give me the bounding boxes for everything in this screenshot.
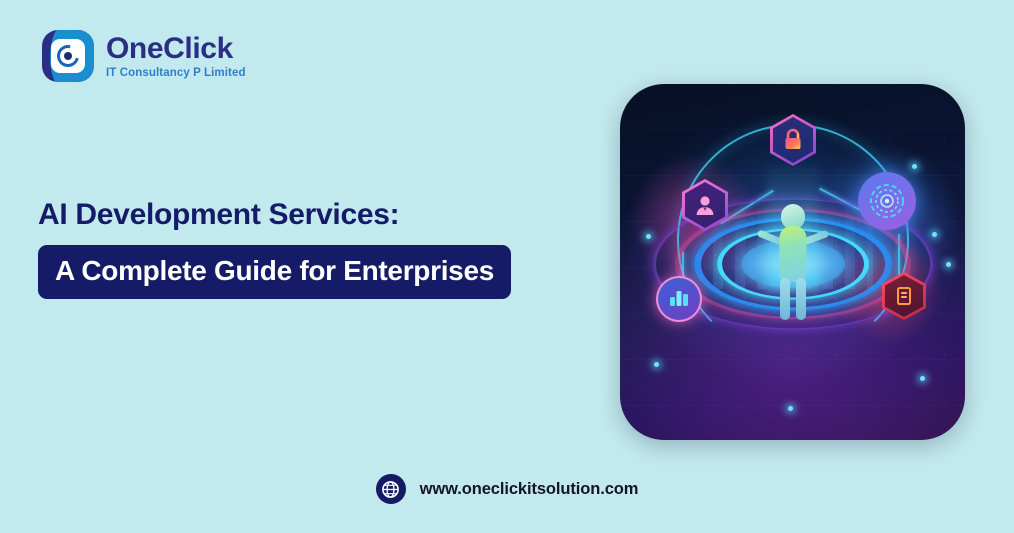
doc-badge: [882, 272, 926, 320]
oneclick-logo-icon: [42, 30, 94, 82]
lock-badge: [770, 114, 816, 166]
figure-left-leg: [780, 278, 790, 320]
dial-badge: [858, 172, 916, 230]
footer-website-url[interactable]: www.oneclickitsolution.com: [420, 480, 639, 499]
sparkle-dot: [912, 164, 917, 169]
sparkle-dot: [788, 406, 793, 411]
figure-torso: [779, 226, 806, 282]
sparkle-dot: [646, 234, 651, 239]
padlock-icon: [782, 128, 804, 152]
sparkle-dot: [946, 262, 951, 267]
hero-human-figure: [771, 204, 815, 322]
chart-badge: [656, 276, 702, 322]
bar-chart-icon: [667, 286, 691, 313]
footer-bar: www.oneclickitsolution.com: [0, 474, 1014, 504]
headline-group: AI Development Services: A Complete Guid…: [38, 198, 511, 299]
brand-logo[interactable]: OneClick IT Consultancy P Limited: [42, 30, 246, 82]
fingerprint-dial-icon: [867, 181, 907, 221]
headline-band: A Complete Guide for Enterprises: [38, 245, 511, 300]
hero-illustration: [620, 84, 965, 440]
logo-mark-inner-square: [51, 39, 85, 73]
headline-secondary: A Complete Guide for Enterprises: [55, 256, 494, 287]
user-person-icon: [694, 193, 716, 217]
user-badge: [682, 179, 728, 231]
sparkle-dot: [920, 376, 925, 381]
globe-icon: [376, 474, 406, 504]
logo-company-name: OneClick: [106, 33, 246, 65]
headline-primary: AI Development Services:: [38, 198, 511, 233]
banner-canvas: OneClick IT Consultancy P Limited AI Dev…: [0, 0, 1014, 533]
logo-wordmark: OneClick IT Consultancy P Limited: [106, 33, 246, 80]
sparkle-dot: [654, 362, 659, 367]
logo-tagline: IT Consultancy P Limited: [106, 67, 246, 79]
logo-center-dot: [64, 52, 72, 60]
document-icon: [895, 286, 913, 306]
figure-right-leg: [796, 278, 806, 320]
